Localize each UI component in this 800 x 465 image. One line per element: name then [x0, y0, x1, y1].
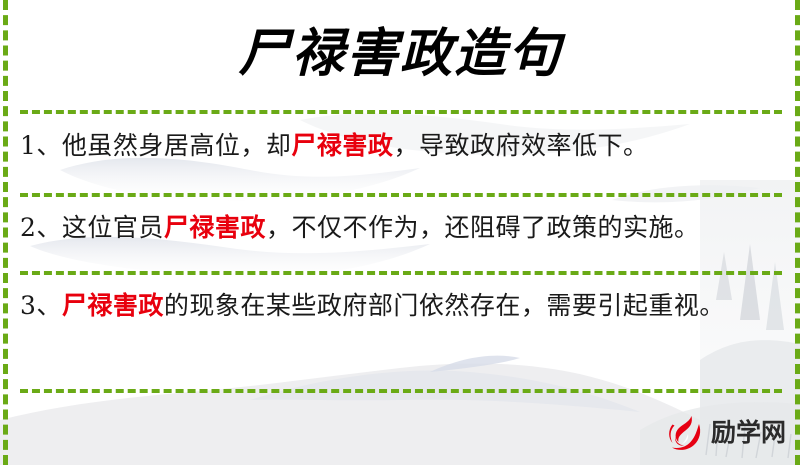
sentence-index: 2、: [20, 213, 62, 242]
highlighted-idiom: 尸禄害政: [291, 131, 393, 160]
separator-under-title: [20, 110, 782, 114]
page-title: 尸禄害政造句: [0, 18, 800, 90]
document-page: 尸禄害政造句 1、他虽然身居高位，却尸禄害政，导致政府效率低下。 2、这位官员尸…: [0, 0, 800, 465]
list-item: 1、他虽然身居高位，却尸禄害政，导致政府效率低下。: [20, 124, 772, 168]
list-item: 3、尸禄害政的现象在某些政府部门依然存在，需要引起重视。: [20, 284, 772, 328]
sentence-text-before: 这位官员: [62, 213, 164, 242]
site-logo[interactable]: 励学网: [663, 412, 786, 454]
highlighted-idiom: 尸禄害政: [62, 291, 164, 320]
site-logo-text: 励学网: [711, 412, 786, 454]
highlighted-idiom: 尸禄害政: [164, 213, 266, 242]
sentence-text-after: ，不仅不作为，还阻碍了政策的实施。: [266, 213, 700, 242]
sentence-index: 3、: [20, 291, 62, 320]
flame-swirl-icon: [663, 412, 705, 454]
list-item: 2、这位官员尸禄害政，不仅不作为，还阻碍了政策的实施。: [20, 206, 772, 250]
separator-after-sentence-1: [20, 193, 782, 197]
sentence-text-after: 的现象在某些政府部门依然存在，需要引起重视。: [164, 291, 725, 320]
sentence-text-after: ，导致政府效率低下。: [393, 131, 648, 160]
separator-after-sentence-3: [20, 389, 782, 393]
separator-after-sentence-2: [20, 271, 782, 275]
sentence-text-before: 他虽然身居高位，却: [62, 131, 292, 160]
sentence-index: 1、: [20, 131, 62, 160]
